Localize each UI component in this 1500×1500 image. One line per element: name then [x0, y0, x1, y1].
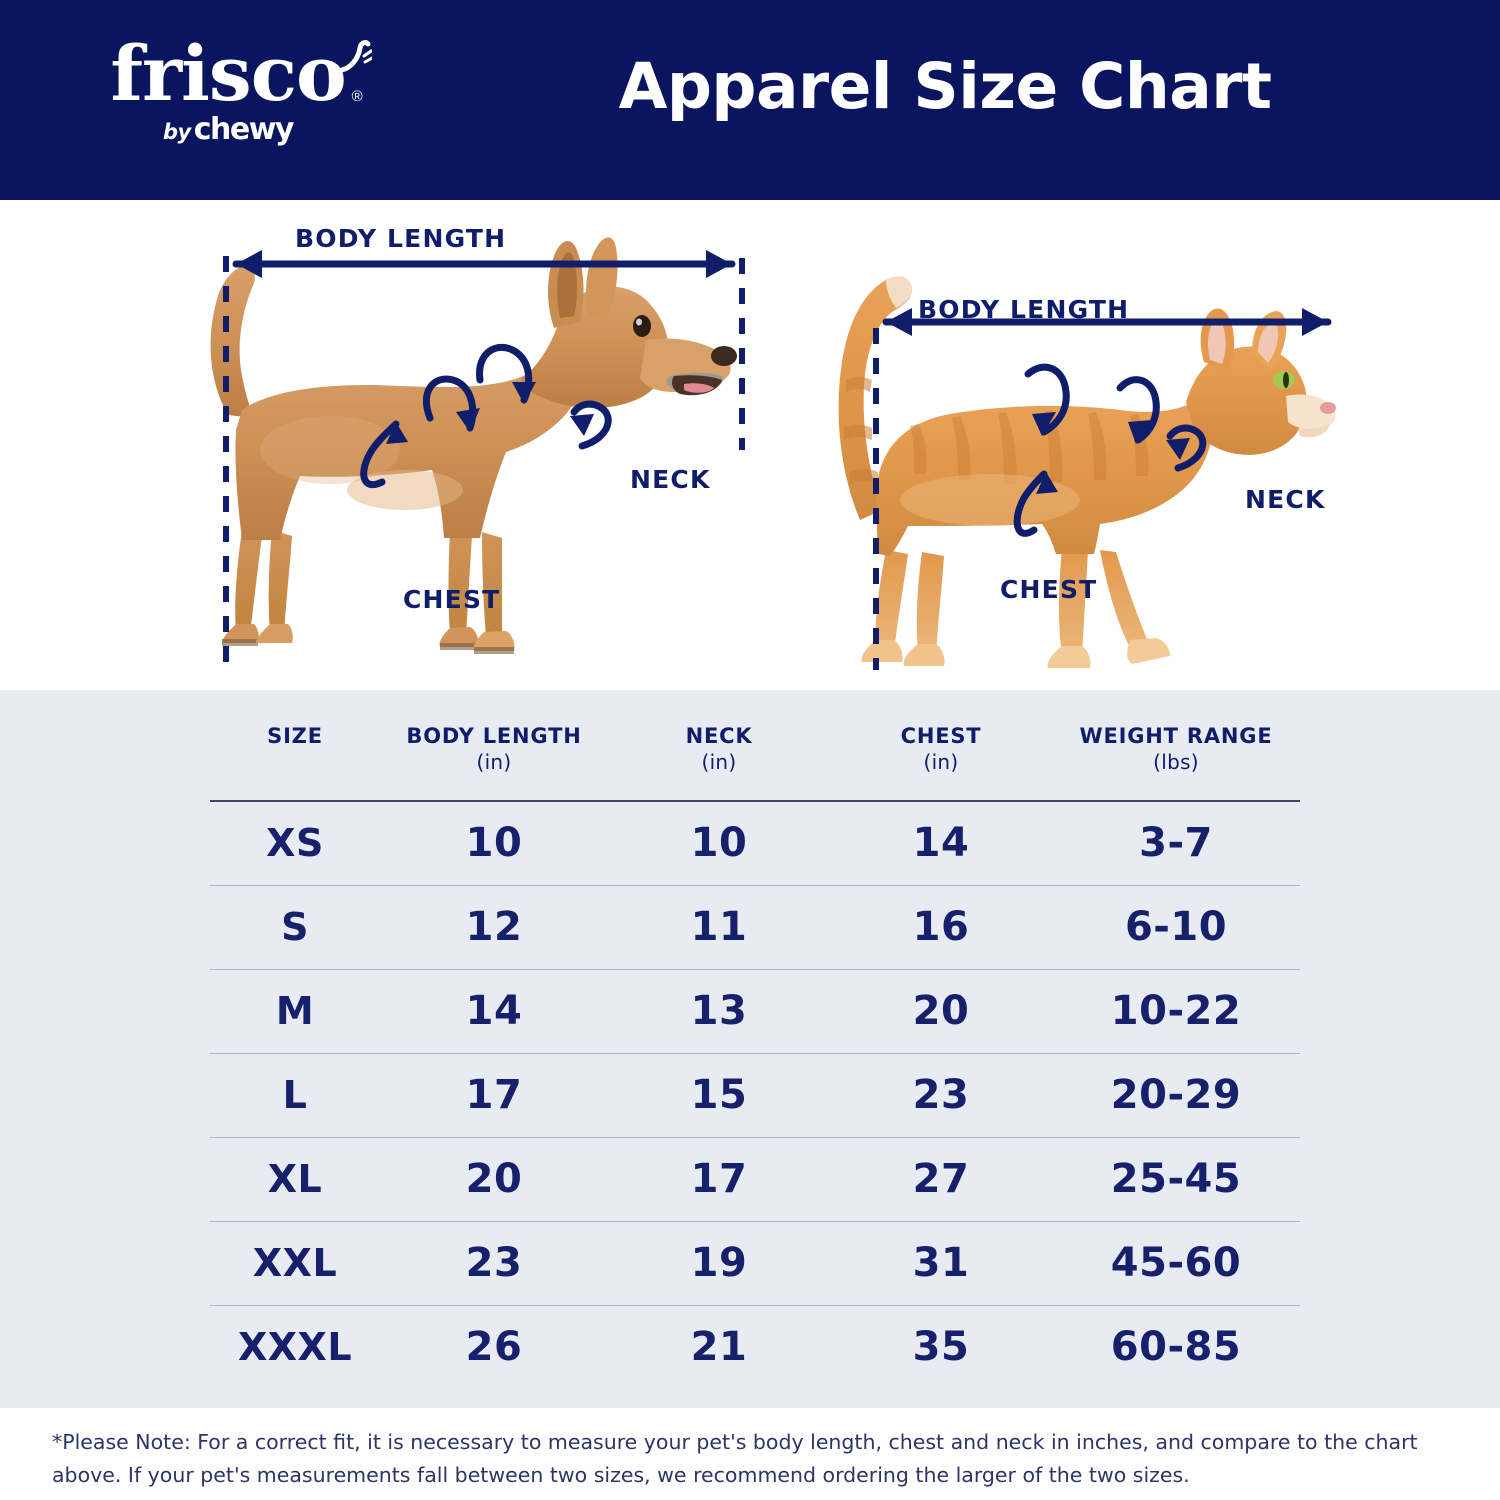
cell-weight-range: 20-29 — [1052, 1053, 1300, 1137]
cell-size: M — [210, 969, 380, 1053]
cell-chest: 27 — [830, 1137, 1052, 1221]
table-row: M 14 13 20 10-22 — [210, 969, 1300, 1053]
cell-size: XXL — [210, 1221, 380, 1305]
cell-weight-range: 25-45 — [1052, 1137, 1300, 1221]
cell-size: XL — [210, 1137, 380, 1221]
dog-chest-label: CHEST — [403, 585, 500, 614]
column-header-chest-unit: (in) — [830, 750, 1052, 774]
cell-neck: 17 — [608, 1137, 830, 1221]
column-header-body-length: BODY LENGTH (in) — [380, 710, 608, 801]
cell-neck: 21 — [608, 1305, 830, 1389]
cell-weight-range: 60-85 — [1052, 1305, 1300, 1389]
cell-chest: 35 — [830, 1305, 1052, 1389]
column-header-chest: CHEST (in) — [830, 710, 1052, 801]
column-header-size: SIZE — [210, 710, 380, 801]
brand-wordmark: frisco ® — [110, 38, 345, 110]
registered-trademark-icon: ® — [352, 90, 362, 104]
brand-byline-by: by — [163, 120, 191, 144]
column-header-neck-unit: (in) — [608, 750, 830, 774]
cell-neck: 19 — [608, 1221, 830, 1305]
table-row: XL 20 17 27 25-45 — [210, 1137, 1300, 1221]
cell-body-length: 14 — [380, 969, 608, 1053]
cell-neck: 11 — [608, 885, 830, 969]
header-band: frisco ® bychewy Apparel Size Chart — [0, 0, 1500, 200]
cat-chest-label: CHEST — [1000, 575, 1097, 604]
cat-figure-icon — [790, 200, 1370, 690]
page-title: Apparel Size Chart — [430, 50, 1460, 123]
footer-note-text: *Please Note: For a correct fit, it is n… — [52, 1426, 1448, 1492]
cell-size: XXXL — [210, 1305, 380, 1389]
table-row: L 17 15 23 20-29 — [210, 1053, 1300, 1137]
column-header-body-length-unit: (in) — [380, 750, 608, 774]
cat-neck-label: NECK — [1245, 485, 1326, 514]
table-row: S 12 11 16 6-10 — [210, 885, 1300, 969]
cat-body-length-label: BODY LENGTH — [918, 295, 1129, 324]
cell-chest: 16 — [830, 885, 1052, 969]
cell-weight-range: 6-10 — [1052, 885, 1300, 969]
cell-chest: 14 — [830, 801, 1052, 885]
size-table: SIZE BODY LENGTH (in) NECK (in) CHEST (i… — [210, 710, 1300, 1389]
brand-wordmark-text: frisco — [110, 29, 345, 118]
footer-note-section: *Please Note: For a correct fit, it is n… — [0, 1408, 1500, 1500]
cell-neck: 13 — [608, 969, 830, 1053]
table-row: XS 10 10 14 3-7 — [210, 801, 1300, 885]
cell-body-length: 12 — [380, 885, 608, 969]
dog-figure-icon — [150, 200, 770, 690]
cell-neck: 10 — [608, 801, 830, 885]
column-header-body-length-label: BODY LENGTH — [406, 724, 581, 748]
column-header-neck-label: NECK — [686, 724, 753, 748]
cell-weight-range: 10-22 — [1052, 969, 1300, 1053]
column-header-weight-range-label: WEIGHT RANGE — [1080, 724, 1273, 748]
table-header-row: SIZE BODY LENGTH (in) NECK (in) CHEST (i… — [210, 710, 1300, 801]
cell-body-length: 23 — [380, 1221, 608, 1305]
cell-chest: 31 — [830, 1221, 1052, 1305]
cell-body-length: 26 — [380, 1305, 608, 1389]
cell-body-length: 17 — [380, 1053, 608, 1137]
cat-illustration-panel: BODY LENGTH NECK CHEST — [790, 200, 1370, 690]
column-header-weight-range-unit: (lbs) — [1052, 750, 1300, 774]
cell-body-length: 10 — [380, 801, 608, 885]
column-header-size-label: SIZE — [267, 724, 323, 748]
dog-neck-label: NECK — [630, 465, 711, 494]
size-table-section: SIZE BODY LENGTH (in) NECK (in) CHEST (i… — [0, 690, 1500, 1408]
cell-chest: 20 — [830, 969, 1052, 1053]
cell-weight-range: 45-60 — [1052, 1221, 1300, 1305]
dog-body-length-label: BODY LENGTH — [295, 224, 506, 253]
table-row: XXL 23 19 31 45-60 — [210, 1221, 1300, 1305]
cell-neck: 15 — [608, 1053, 830, 1137]
table-row: XXXL 26 21 35 60-85 — [210, 1305, 1300, 1389]
dog-illustration-panel: BODY LENGTH NECK CHEST — [150, 200, 770, 690]
size-chart-page: frisco ® bychewy Apparel Size Chart — [0, 0, 1500, 1500]
frisco-logo[interactable]: frisco ® bychewy — [78, 38, 378, 168]
cell-size: XS — [210, 801, 380, 885]
cell-weight-range: 3-7 — [1052, 801, 1300, 885]
column-header-weight-range: WEIGHT RANGE (lbs) — [1052, 710, 1300, 801]
cell-size: S — [210, 885, 380, 969]
column-header-neck: NECK (in) — [608, 710, 830, 801]
illustration-area: BODY LENGTH NECK CHEST — [0, 200, 1500, 690]
cell-chest: 23 — [830, 1053, 1052, 1137]
cell-body-length: 20 — [380, 1137, 608, 1221]
column-header-chest-label: CHEST — [901, 724, 982, 748]
cell-size: L — [210, 1053, 380, 1137]
